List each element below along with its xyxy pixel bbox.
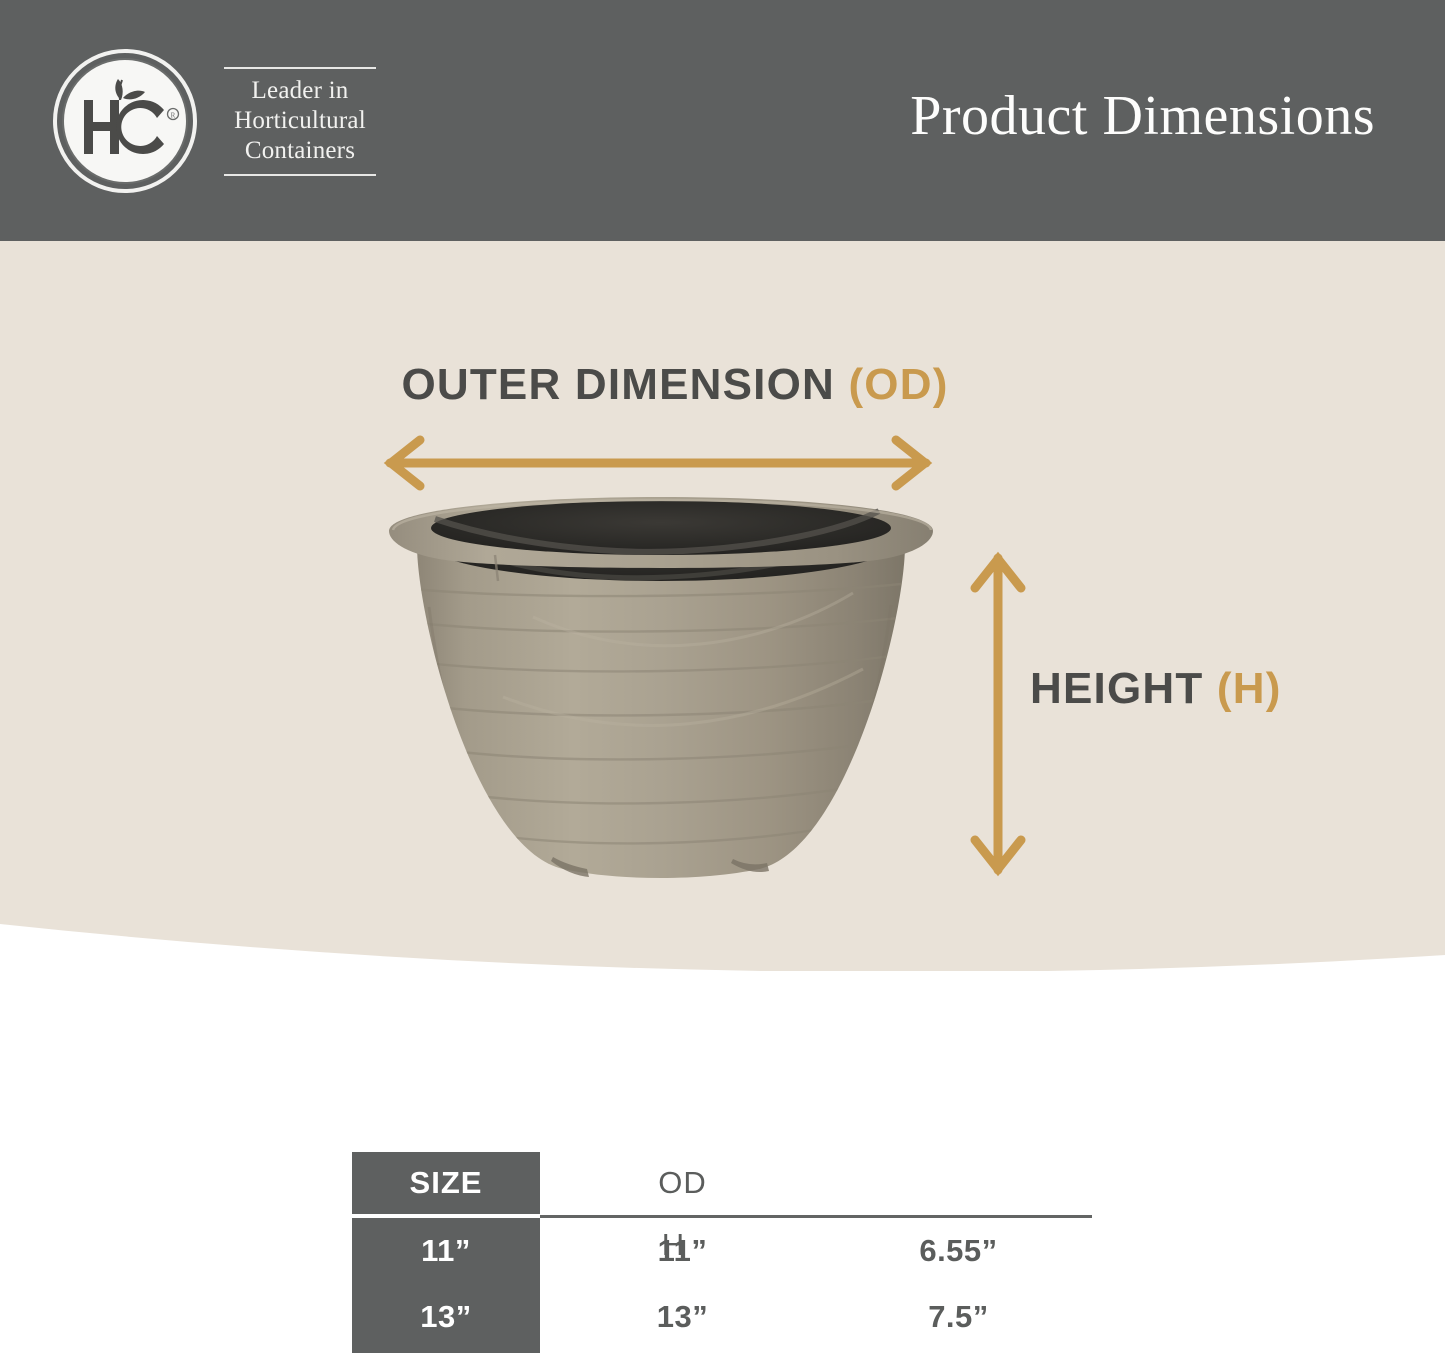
cell-od-row-2-wrap: 13” xyxy=(540,1284,825,1350)
cell-od-row-1-wrap: 11” xyxy=(540,1218,825,1284)
brand-lockup: R Leader in Horticultural Containers xyxy=(52,48,382,194)
height-arrow xyxy=(968,548,1028,880)
cell-h-row-1: 6.55” xyxy=(919,1233,997,1269)
tagline-line-1: Leader in xyxy=(234,76,366,106)
height-label-abbrev: (H) xyxy=(1217,664,1282,713)
cell-h-row-2: 7.5” xyxy=(928,1299,989,1335)
tagline-line-3: Containers xyxy=(234,136,366,166)
spec-table-size-column: 11” 13” xyxy=(352,1218,540,1353)
table-row: 13” 7.5” xyxy=(540,1284,1092,1350)
hc-logo-icon: R xyxy=(52,48,198,194)
product-dimensions-infographic: R Leader in Horticultural Containers Pro… xyxy=(0,0,1445,1353)
height-label: HEIGHT (H) xyxy=(1030,664,1282,714)
column-header-size: SIZE xyxy=(410,1165,483,1201)
spec-table: SIZE 11” 13” OD H xyxy=(352,1152,1092,1353)
table-row: 11” 6.55” xyxy=(540,1218,1092,1284)
tagline-line-2: Horticultural xyxy=(234,106,366,136)
spec-table-header-row: OD H xyxy=(540,1152,1092,1214)
header-bar: R Leader in Horticultural Containers Pro… xyxy=(0,0,1445,241)
page-title: Product Dimensions xyxy=(910,84,1375,148)
cell-size-row-2: 13” xyxy=(420,1299,471,1335)
height-label-main: HEIGHT xyxy=(1030,664,1203,713)
planter-product-image xyxy=(383,497,939,882)
cell-size-row-1: 11” xyxy=(421,1233,471,1269)
spec-table-header-size: SIZE xyxy=(352,1152,540,1214)
spec-table-body: 11” 6.55” 13” 7.5” xyxy=(540,1218,1092,1353)
brand-seal-logo: R xyxy=(52,48,198,194)
svg-text:R: R xyxy=(171,112,176,120)
cell-od-row-2: 13” xyxy=(657,1299,708,1335)
cell-h-row-1-wrap: 6.55” xyxy=(825,1218,1092,1284)
spec-table-data-area: OD H 11” 6.55” 13” xyxy=(540,1152,1092,1353)
tagline-rule-bottom xyxy=(224,174,376,176)
table-row: 13” xyxy=(352,1284,540,1350)
table-row: 11” xyxy=(352,1218,540,1284)
column-header-od-cell: OD xyxy=(540,1152,825,1214)
tagline-text: Leader in Horticultural Containers xyxy=(234,69,366,174)
brand-tagline: Leader in Horticultural Containers xyxy=(218,67,382,176)
cell-od-row-1: 11” xyxy=(658,1233,708,1269)
outer-dimension-arrow xyxy=(378,434,938,492)
cell-h-row-2-wrap: 7.5” xyxy=(825,1284,1092,1350)
column-header-od: OD xyxy=(658,1165,707,1201)
